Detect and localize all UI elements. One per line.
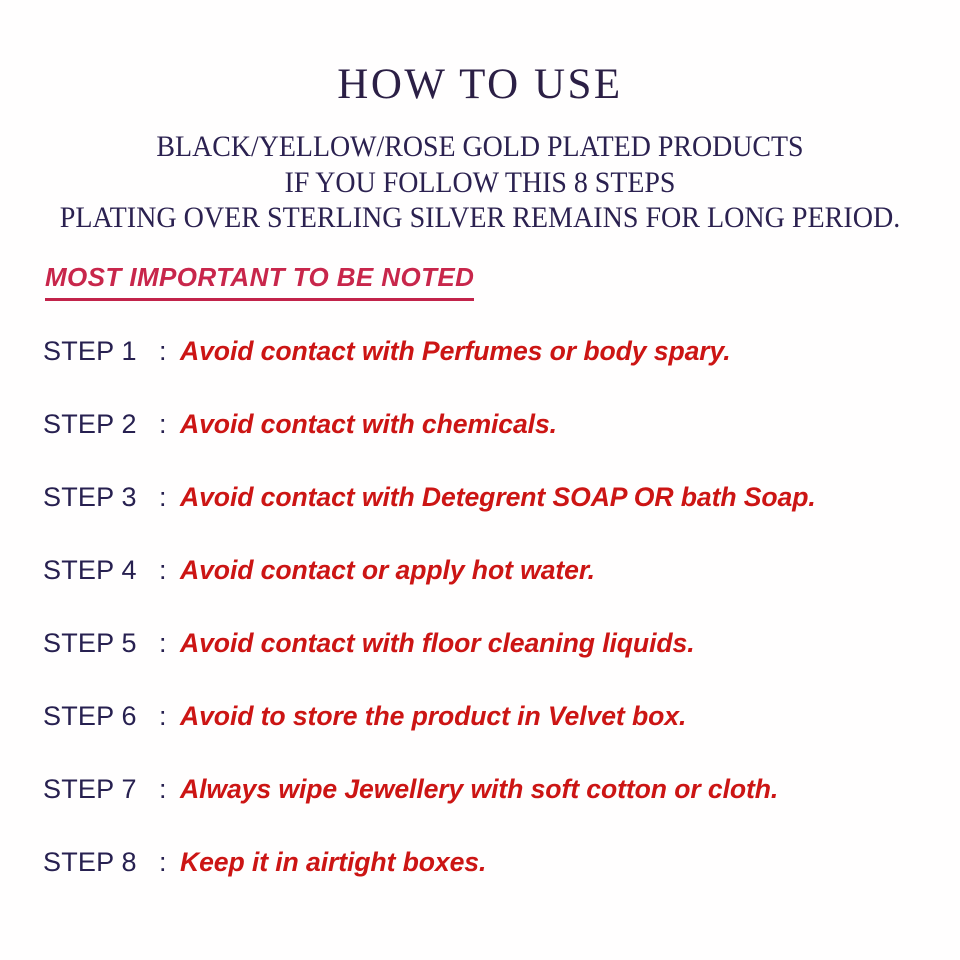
step-label: STEP 6 [43, 701, 147, 732]
subtitle-block: BLACK/YELLOW/ROSE GOLD PLATED PRODUCTS I… [0, 129, 960, 235]
step-row: STEP 3 : Avoid contact with Detegrent SO… [43, 482, 943, 555]
page-title: HOW TO USE [0, 0, 960, 107]
step-row: STEP 6 : Avoid to store the product in V… [43, 701, 943, 774]
steps-list: STEP 1 : Avoid contact with Perfumes or … [43, 336, 943, 920]
step-separator: : [147, 555, 180, 586]
step-label: STEP 1 [43, 336, 147, 367]
step-description: Avoid contact with Detegrent SOAP OR bat… [180, 482, 816, 513]
step-row: STEP 4 : Avoid contact or apply hot wate… [43, 555, 943, 628]
step-separator: : [147, 336, 180, 367]
step-label: STEP 5 [43, 628, 147, 659]
step-row: STEP 5 : Avoid contact with floor cleani… [43, 628, 943, 701]
step-description: Keep it in airtight boxes. [180, 847, 486, 878]
step-row: STEP 2 : Avoid contact with chemicals. [43, 409, 943, 482]
subtitle-line-1: BLACK/YELLOW/ROSE GOLD PLATED PRODUCTS [34, 129, 927, 164]
subtitle-line-2: IF YOU FOLLOW THIS 8 STEPS [34, 165, 927, 200]
step-label: STEP 4 [43, 555, 147, 586]
subtitle-line-3: PLATING OVER STERLING SILVER REMAINS FOR… [31, 200, 929, 235]
step-description: Avoid contact with Perfumes or body spar… [180, 336, 731, 367]
step-description: Avoid to store the product in Velvet box… [180, 701, 686, 732]
step-separator: : [147, 482, 180, 513]
step-separator: : [147, 628, 180, 659]
step-label: STEP 7 [43, 774, 147, 805]
step-description: Always wipe Jewellery with soft cotton o… [180, 774, 778, 805]
poster-header: HOW TO USE BLACK/YELLOW/ROSE GOLD PLATED… [0, 0, 960, 235]
step-label: STEP 3 [43, 482, 147, 513]
step-label: STEP 8 [43, 847, 147, 878]
important-notice-heading: MOST IMPORTANT TO BE NOTED [45, 262, 474, 301]
step-separator: : [147, 409, 180, 440]
step-description: Avoid contact with chemicals. [180, 409, 557, 440]
step-label: STEP 2 [43, 409, 147, 440]
step-row: STEP 7 : Always wipe Jewellery with soft… [43, 774, 943, 847]
step-description: Avoid contact with floor cleaning liquid… [180, 628, 694, 659]
step-row: STEP 8 : Keep it in airtight boxes. [43, 847, 943, 920]
step-separator: : [147, 847, 180, 878]
step-separator: : [147, 774, 180, 805]
care-instructions-poster: HOW TO USE BLACK/YELLOW/ROSE GOLD PLATED… [0, 0, 960, 960]
step-description: Avoid contact or apply hot water. [180, 555, 595, 586]
step-separator: : [147, 701, 180, 732]
step-row: STEP 1 : Avoid contact with Perfumes or … [43, 336, 943, 409]
